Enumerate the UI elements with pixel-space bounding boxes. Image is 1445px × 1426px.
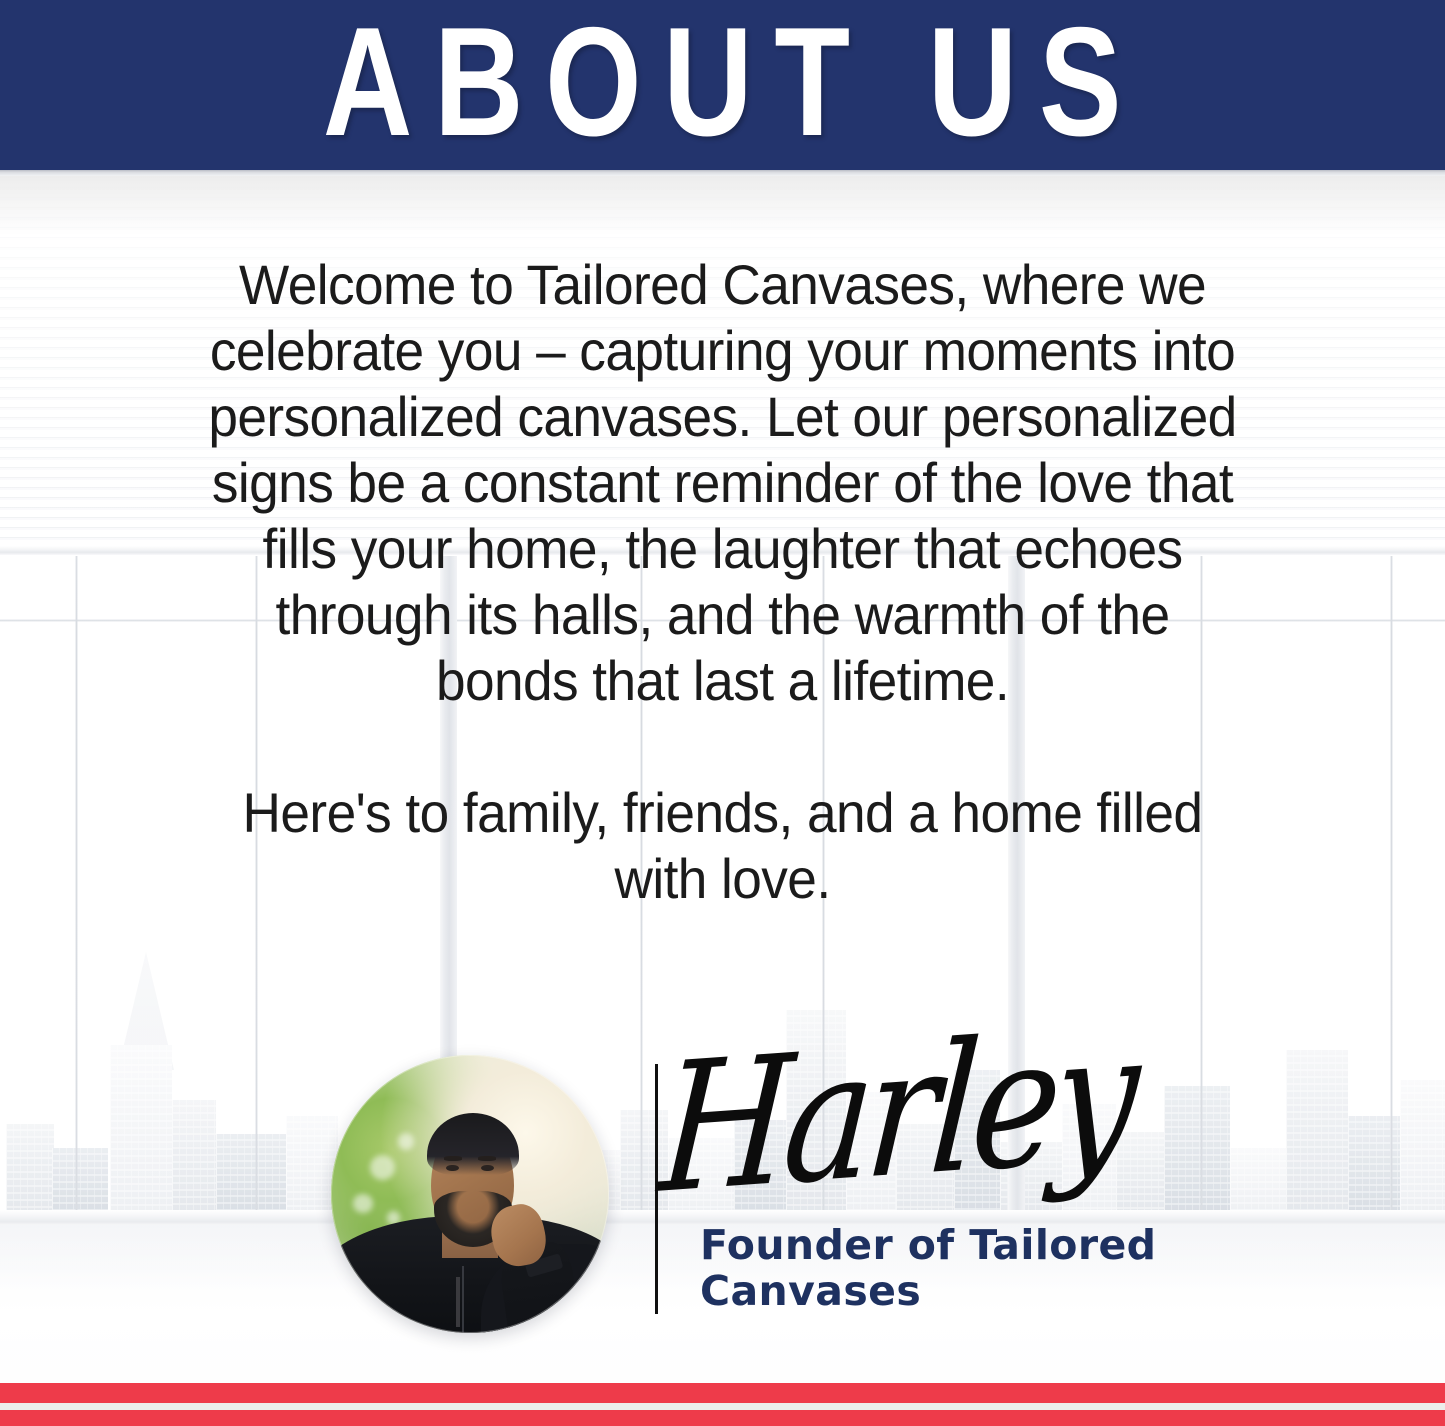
avatar-edge-ring — [331, 1055, 609, 1333]
avatar-photo — [331, 1055, 609, 1333]
founder-role: Founder of Tailored Canvases — [700, 1222, 1170, 1314]
founder-role-line-1: Founder of Tailored — [700, 1222, 1170, 1268]
about-paragraph-2: Here's to family, friends, and a home fi… — [202, 780, 1242, 912]
about-us-poster: ABOUT US Welcome to Tailored Canvases, w… — [0, 0, 1445, 1426]
banner-shadow — [0, 176, 1445, 236]
about-us-banner: ABOUT US — [0, 0, 1445, 170]
footer-bar-gap — [0, 1403, 1445, 1410]
page-title: ABOUT US — [302, 4, 1144, 159]
footer-red-bar-bottom — [0, 1410, 1445, 1426]
founder-role-line-2: Canvases — [700, 1268, 1170, 1314]
about-paragraph-1: Welcome to Tailored Canvases, where we c… — [202, 252, 1242, 714]
about-us-body-copy: Welcome to Tailored Canvases, where we c… — [202, 252, 1242, 912]
footer-red-bar-top — [0, 1383, 1445, 1403]
founder-avatar — [331, 1055, 609, 1333]
